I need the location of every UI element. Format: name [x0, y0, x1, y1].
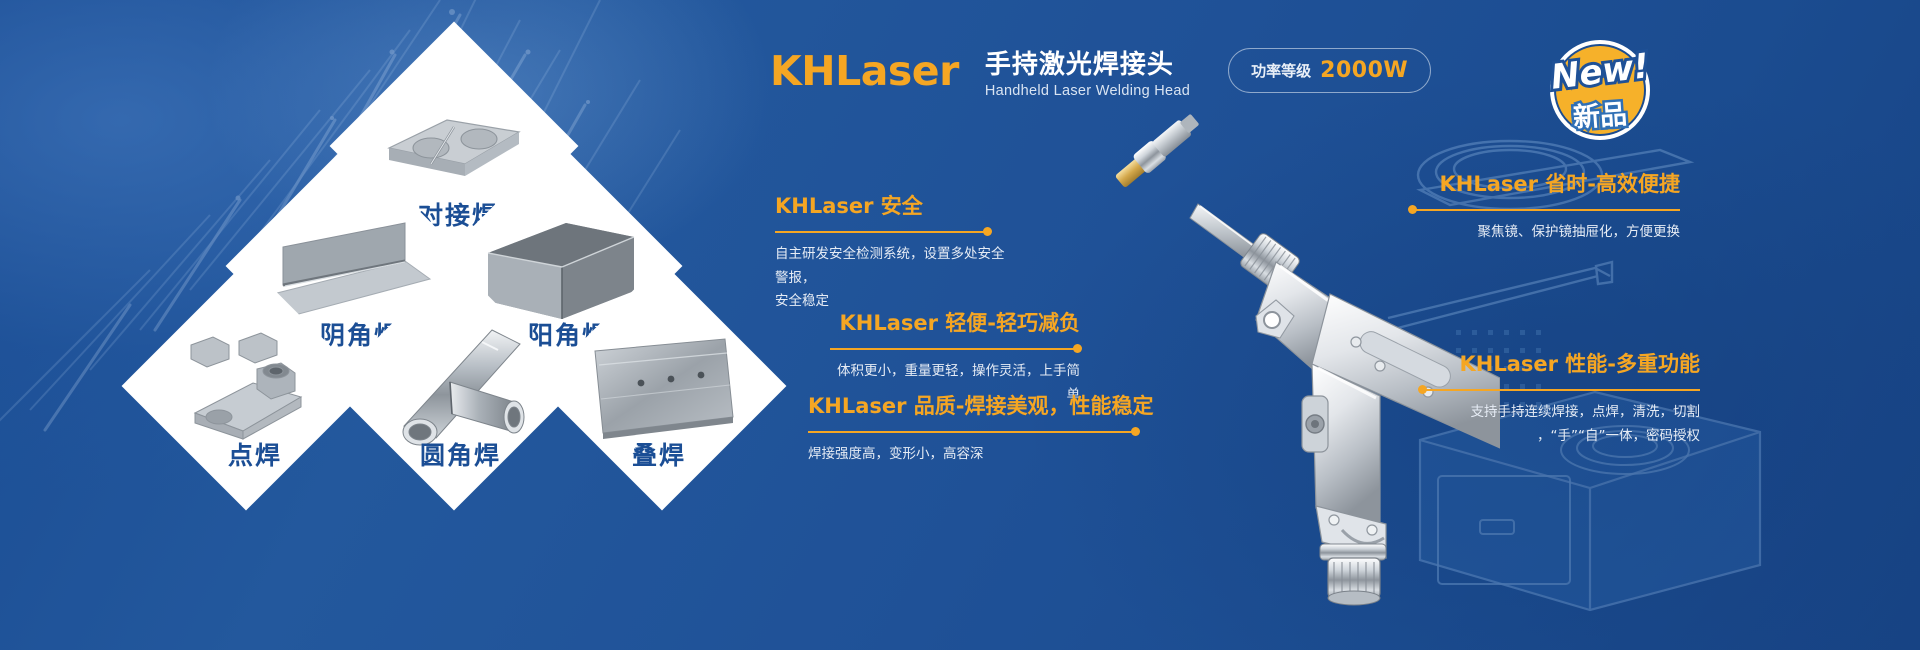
feature-desc: 焊接强度高，变形小，高容深	[808, 443, 1138, 467]
rule-dot-icon	[1418, 385, 1427, 394]
banner-header: KHLaser 手持激光焊接头 Handheld Laser Welding H…	[770, 42, 1431, 99]
rule-line	[830, 348, 1080, 350]
rule-dot-icon	[1073, 344, 1082, 353]
rule-line	[1410, 209, 1680, 211]
feature-callout-quality: KHLaser 品质-焊接美观，性能稳定 焊接强度高，变形小，高容深	[808, 390, 1138, 467]
rule-dot-icon	[1131, 427, 1140, 436]
new-badge-cn-text: 新品	[1572, 98, 1628, 134]
feature-title: KHLaser 品质-焊接美观，性能稳定	[808, 390, 1138, 420]
feature-desc: 支持手持连续焊接，点焊，清洗，切割 ，“手”“自”一体，密码授权	[1420, 401, 1700, 448]
feature-rule	[1420, 385, 1700, 395]
feature-rule	[830, 344, 1080, 354]
product-title-block: 手持激光焊接头 Handheld Laser Welding Head	[985, 42, 1190, 99]
feature-callout-safety: KHLaser 安全 自主研发安全检测系统，设置多处安全警报， 安全稳定	[775, 190, 990, 314]
weld-label-fillet: 圆角焊	[420, 436, 501, 472]
rule-line	[808, 431, 1138, 433]
feature-title: KHLaser 安全	[775, 190, 990, 220]
feature-title: KHLaser 轻便-轻巧减负	[830, 307, 1080, 337]
feature-desc: 聚焦镜、保护镜抽屉化，方便更换	[1410, 221, 1680, 245]
feature-desc: 自主研发安全检测系统，设置多处安全警报， 安全稳定	[775, 243, 1005, 314]
promo-banner: 对接焊 阴角焊	[0, 0, 1920, 650]
feature-title: KHLaser 省时-高效便捷	[1410, 168, 1680, 198]
brand-logo: KHLaser	[770, 47, 959, 95]
new-product-badge: New! 新品	[1540, 30, 1660, 145]
weld-type-diamond-grid: 对接焊 阴角焊	[150, 30, 760, 530]
rule-line	[775, 231, 990, 233]
weld-label-lap: 叠焊	[632, 436, 686, 472]
rule-dot-icon	[1408, 205, 1417, 214]
feature-rule	[808, 427, 1138, 437]
feature-title: KHLaser 性能-多重功能	[1420, 348, 1700, 378]
rule-line	[1420, 389, 1700, 391]
power-rating-value: 2000W	[1320, 58, 1408, 83]
feature-rule	[1410, 205, 1680, 215]
feature-callout-efficiency: KHLaser 省时-高效便捷 聚焦镜、保护镜抽屉化，方便更换	[1410, 168, 1680, 245]
weld-label-spot: 点焊	[228, 436, 282, 472]
power-rating-label: 功率等级	[1251, 60, 1311, 81]
feature-callout-performance: KHLaser 性能-多重功能 支持手持连续焊接，点焊，清洗，切割 ，“手”“自…	[1420, 348, 1700, 448]
product-title-en: Handheld Laser Welding Head	[985, 83, 1190, 99]
product-title-cn: 手持激光焊接头	[985, 44, 1190, 81]
power-rating-badge: 功率等级 2000W	[1228, 48, 1431, 93]
rule-dot-icon	[983, 227, 992, 236]
feature-rule	[775, 227, 990, 237]
